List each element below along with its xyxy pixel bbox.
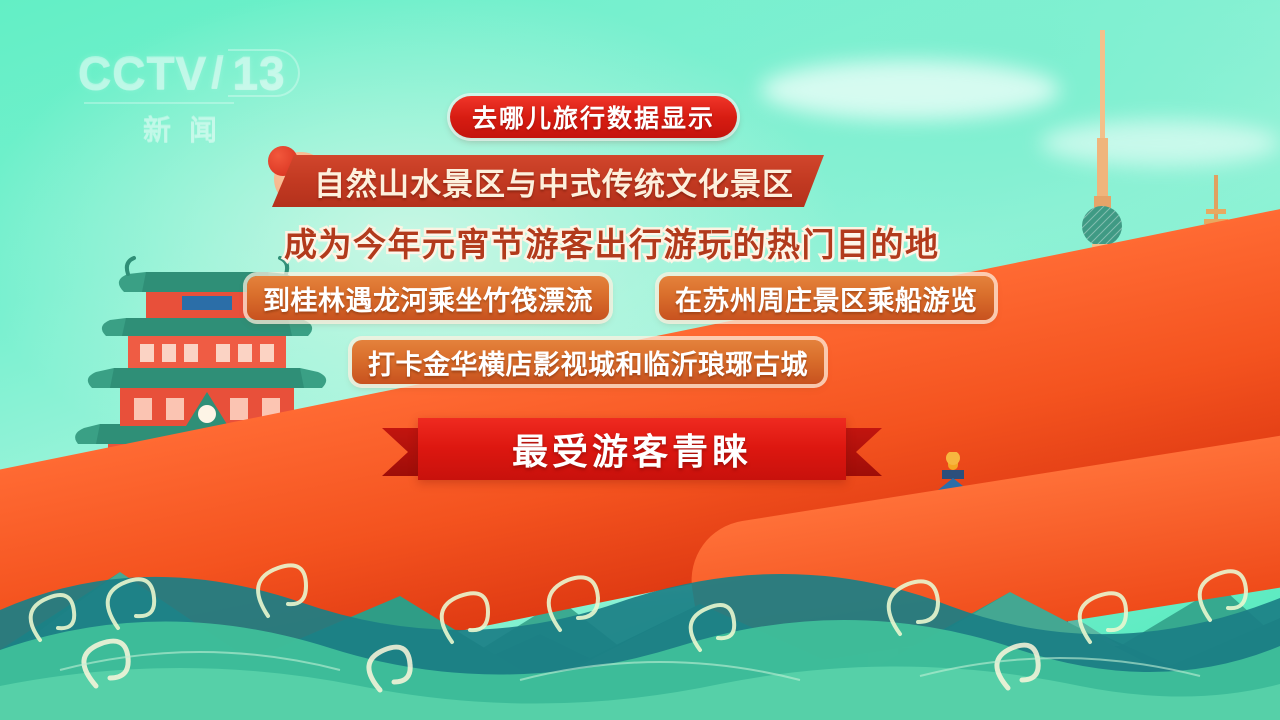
- highlight-chip-3: 打卡金华横店影视城和临沂琅琊古城: [352, 340, 824, 384]
- data-source-pill: 去哪儿旅行数据显示: [450, 96, 737, 138]
- conclusion-ribbon: 最受游客青睐: [382, 418, 882, 486]
- ribbon-label: 最受游客青睐: [418, 418, 846, 480]
- news-graphic-content: 去哪儿旅行数据显示 自然山水景区与中式传统文化景区 成为今年元宵节游客出行游玩的…: [0, 0, 1280, 720]
- highlight-chip-1: 到桂林遇龙河乘坐竹筏漂流: [247, 276, 609, 320]
- highlight-chip-2: 在苏州周庄景区乘船游览: [659, 276, 994, 320]
- headline-line-1: 自然山水景区与中式传统文化景区: [272, 155, 824, 207]
- broadcast-frame: CCTV / 13 新闻 去哪儿旅行数据显示 自然山水景区与中式传统文化景区 成…: [0, 0, 1280, 720]
- headline-line-2: 成为今年元宵节游客出行游玩的热门目的地: [284, 218, 940, 266]
- headline-banner: 自然山水景区与中式传统文化景区: [272, 155, 824, 207]
